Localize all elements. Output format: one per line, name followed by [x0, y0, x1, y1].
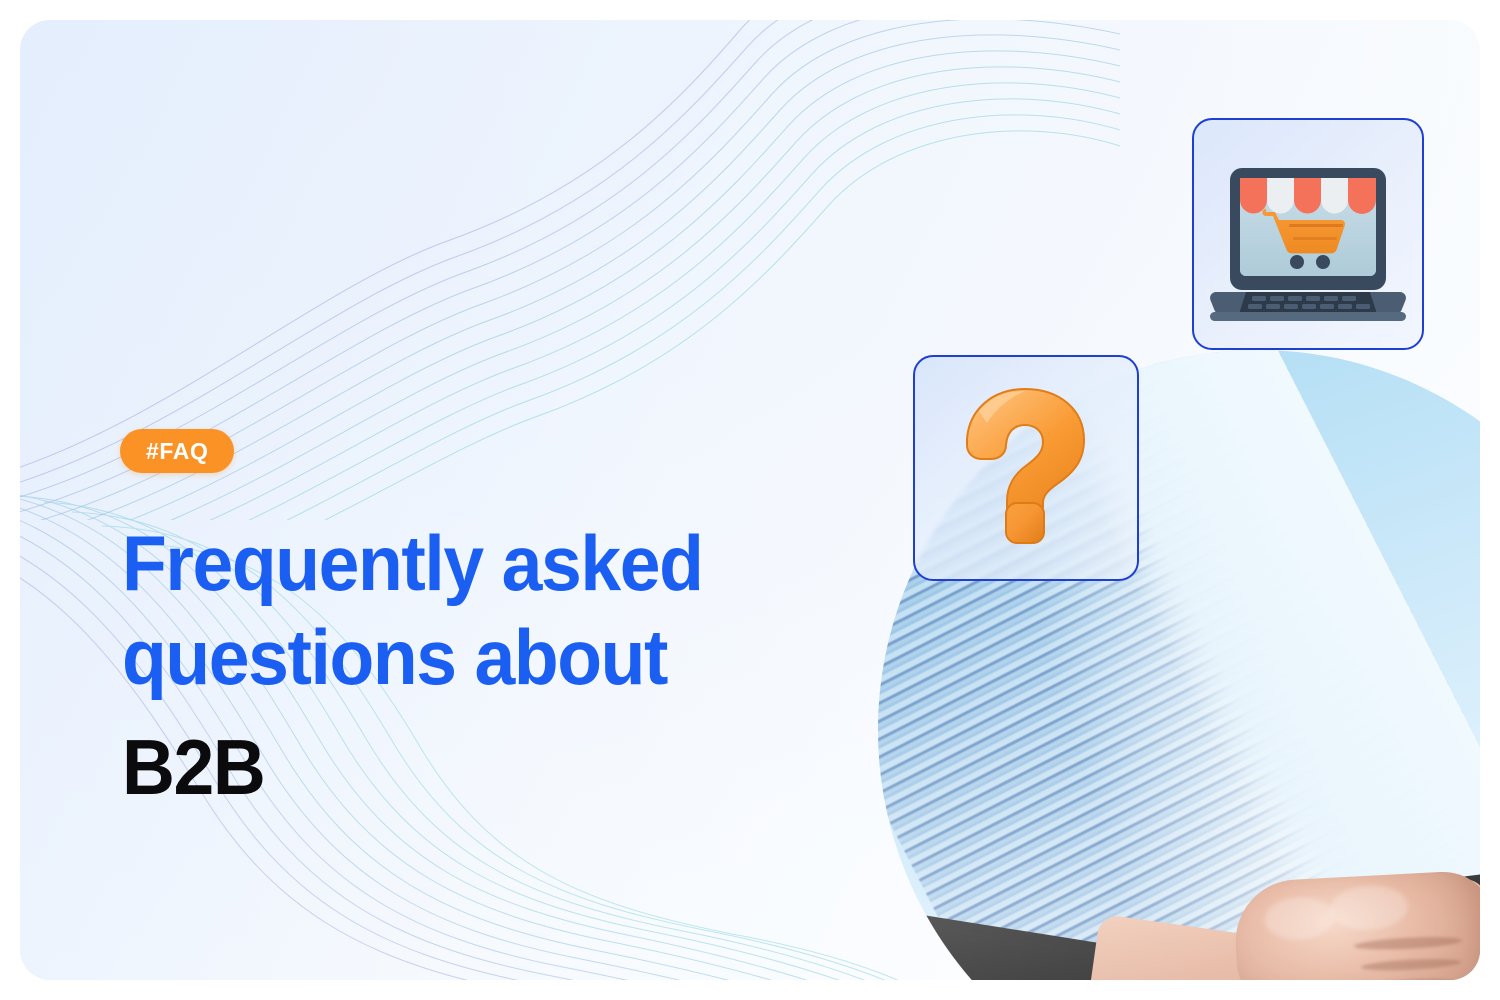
page-title: Frequently asked questions about B2B: [122, 516, 865, 814]
question-mark-card: [913, 355, 1139, 581]
headline-line-1: Frequently asked: [122, 516, 865, 610]
banner-canvas: #FAQ Frequently asked questions about B2…: [0, 0, 1500, 1000]
laptop-shop-card: [1192, 118, 1424, 350]
faq-badge-label: #FAQ: [146, 438, 208, 465]
headline-line-3: B2B: [122, 720, 865, 814]
shop-awning-icon: [1240, 178, 1376, 214]
faq-badge: #FAQ: [120, 429, 234, 473]
banner-card: #FAQ Frequently asked questions about B2…: [20, 20, 1480, 980]
laptop-shop-icon: [1194, 120, 1422, 348]
headline-line-2: questions about: [122, 610, 865, 704]
question-mark-icon: [915, 357, 1137, 579]
